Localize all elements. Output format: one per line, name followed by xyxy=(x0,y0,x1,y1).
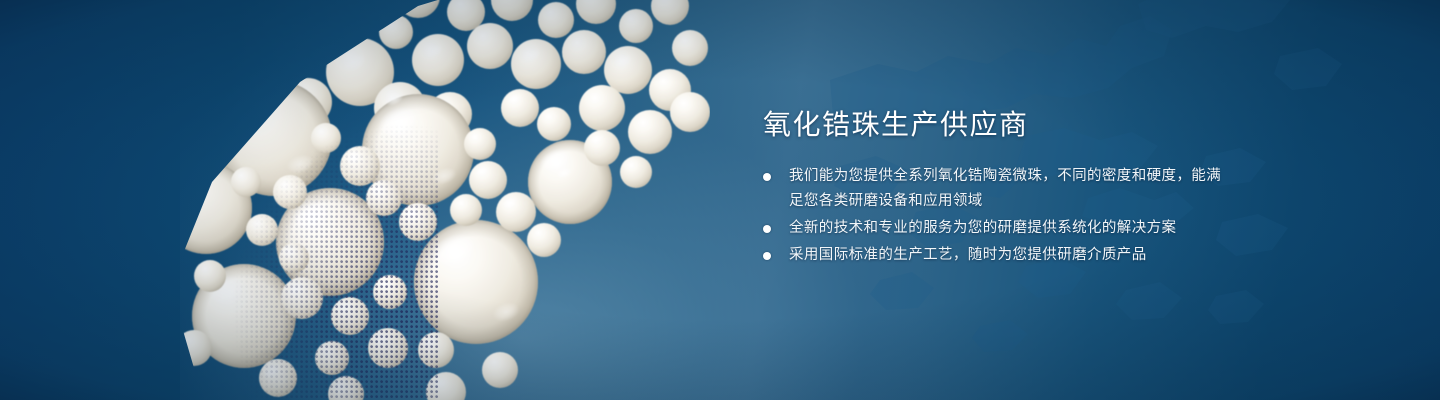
bullet-dot-icon xyxy=(763,225,771,233)
banner-copy: 氧化锆珠生产供应商 我们能为您提供全系列氧化锆陶瓷微珠，不同的密度和硬度，能满足… xyxy=(763,106,1233,270)
bullet-dot-icon xyxy=(763,173,771,181)
bullet-text: 我们能为您提供全系列氧化锆陶瓷微珠，不同的密度和硬度，能满足您各类研磨设备和应用… xyxy=(789,164,1233,214)
bullet-item: 采用国际标准的生产工艺，随时为您提供研磨介质产品 xyxy=(763,243,1233,268)
bullet-item: 全新的技术和专业的服务为您的研磨提供系统化的解决方案 xyxy=(763,216,1233,241)
banner-bullet-list: 我们能为您提供全系列氧化锆陶瓷微珠，不同的密度和硬度，能满足您各类研磨设备和应用… xyxy=(763,164,1233,268)
bullet-text: 全新的技术和专业的服务为您的研磨提供系统化的解决方案 xyxy=(789,216,1233,241)
bullet-dot-icon xyxy=(763,252,771,260)
hero-banner: 氧化锆珠生产供应商 我们能为您提供全系列氧化锆陶瓷微珠，不同的密度和硬度，能满足… xyxy=(0,0,1440,400)
bullet-text: 采用国际标准的生产工艺，随时为您提供研磨介质产品 xyxy=(789,243,1233,268)
banner-headline: 氧化锆珠生产供应商 xyxy=(763,106,1233,144)
bullet-item: 我们能为您提供全系列氧化锆陶瓷微珠，不同的密度和硬度，能满足您各类研磨设备和应用… xyxy=(763,164,1233,214)
